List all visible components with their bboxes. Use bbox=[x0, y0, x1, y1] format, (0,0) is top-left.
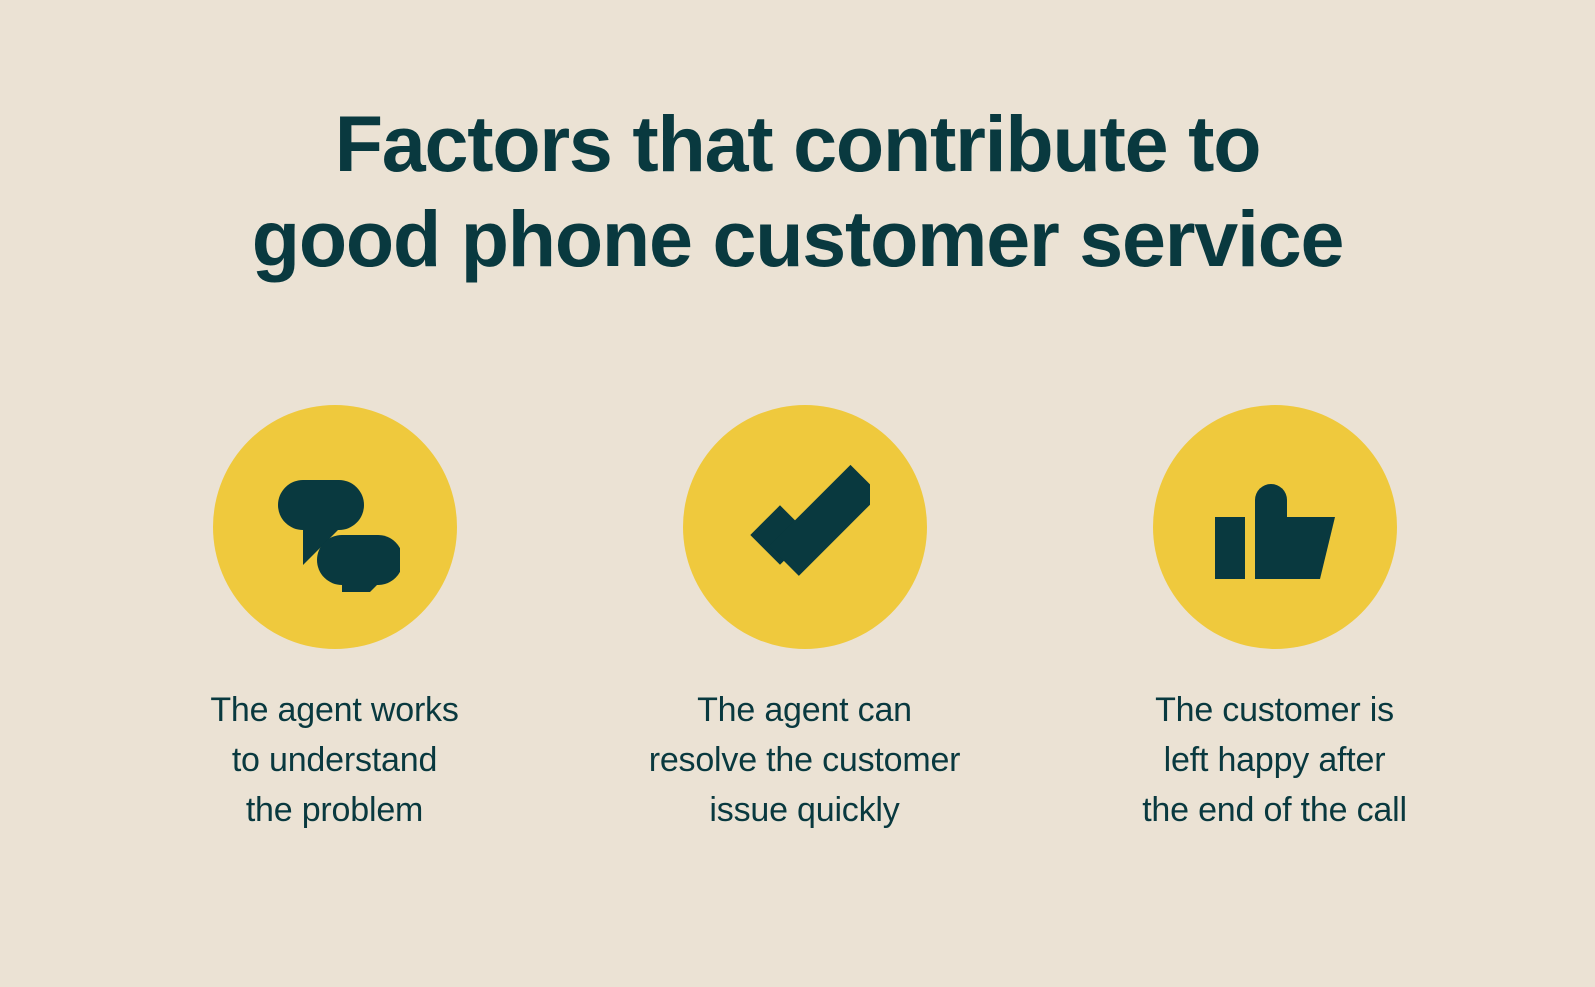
caption-line: resolve the customer bbox=[649, 735, 961, 785]
page-title-line-2: good phone customer service bbox=[148, 191, 1448, 286]
factor-card-caption-2: The agent can resolve the customer issue… bbox=[649, 685, 961, 835]
icon-badge-1 bbox=[213, 405, 457, 649]
caption-line: the end of the call bbox=[1142, 785, 1407, 835]
checkmark-icon bbox=[740, 462, 870, 592]
caption-line: left happy after bbox=[1142, 735, 1407, 785]
icon-badge-3 bbox=[1153, 405, 1397, 649]
infographic-poster: Factors that contribute to good phone cu… bbox=[0, 0, 1595, 987]
caption-line: the problem bbox=[210, 785, 458, 835]
factor-card-caption-1: The agent works to understand the proble… bbox=[210, 685, 458, 835]
caption-line: to understand bbox=[210, 735, 458, 785]
factor-card-list: The agent works to understand the proble… bbox=[0, 405, 1595, 835]
caption-line: The customer is bbox=[1142, 685, 1407, 735]
caption-line: The agent works bbox=[210, 685, 458, 735]
chat-bubbles-icon bbox=[270, 462, 400, 592]
page-title: Factors that contribute to good phone cu… bbox=[148, 96, 1448, 286]
caption-line: issue quickly bbox=[649, 785, 961, 835]
factor-card-happy-customer: The customer is left happy after the end… bbox=[1040, 405, 1510, 835]
factor-card-understand-problem: The agent works to understand the proble… bbox=[100, 405, 570, 835]
factor-card-resolve-quickly: The agent can resolve the customer issue… bbox=[570, 405, 1040, 835]
page-title-line-1: Factors that contribute to bbox=[148, 96, 1448, 191]
caption-line: The agent can bbox=[649, 685, 961, 735]
factor-card-caption-3: The customer is left happy after the end… bbox=[1142, 685, 1407, 835]
thumbs-up-icon bbox=[1210, 462, 1340, 592]
icon-badge-2 bbox=[683, 405, 927, 649]
